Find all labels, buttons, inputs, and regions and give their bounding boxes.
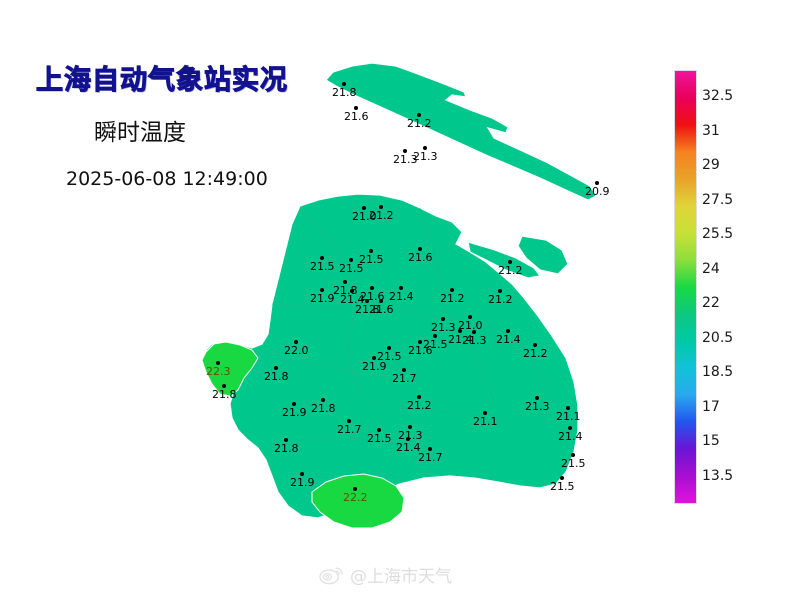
colorbar-label: 18.5	[702, 364, 733, 380]
station-value-label: 21.6	[408, 252, 433, 263]
weather-map-page: 上海自动气象站实况 瞬时温度 2025-06-08 12:49:00	[0, 0, 800, 600]
colorbar-label: 17	[702, 399, 720, 415]
station-value-label: 21.2	[440, 293, 465, 304]
watermark-text: @上海市天气	[350, 562, 452, 587]
weibo-logo-icon	[318, 564, 344, 586]
station-value-label: 21.8	[212, 389, 237, 400]
station-value-label: 21.2	[498, 265, 523, 276]
station-value-label: 21.2	[523, 348, 548, 359]
watermark: @上海市天气	[318, 562, 452, 587]
station-value-label: 21.5	[550, 481, 575, 492]
station-value-label: 21.6	[408, 345, 433, 356]
colorbar-label: 13.5	[702, 468, 733, 484]
station-value-label: 21.8	[332, 87, 357, 98]
colorbar-label: 15	[702, 433, 720, 449]
station-value-label: 21.7	[337, 424, 362, 435]
colorbar-label: 20.5	[702, 330, 733, 346]
station-value-label: 21.2	[407, 118, 432, 129]
station-value-label: 21.8	[264, 371, 289, 382]
station-value-label: 21.1	[556, 411, 581, 422]
station-value-label: 21.6	[344, 111, 369, 122]
station-value-label: 21.4	[558, 431, 583, 442]
map-canvas[interactable]: 21.821.621.221.321.320.921.021.221.521.6…	[0, 0, 660, 600]
colorbar-label: 32.5	[702, 88, 733, 104]
colorbar-label: 24	[702, 261, 720, 277]
station-value-label: 21.5	[377, 351, 402, 362]
station-value-label: 21.5	[310, 261, 335, 272]
colorbar-label: 31	[702, 123, 720, 139]
station-value-label: 21.2	[488, 294, 513, 305]
colorbar-gradient	[674, 70, 697, 504]
colorbar-label: 25.5	[702, 226, 733, 242]
station-value-label: 21.3	[462, 335, 487, 346]
station-value-label: 21.5	[339, 263, 364, 274]
colorbar-label: 22	[702, 295, 720, 311]
station-value-label: 21.3	[431, 322, 456, 333]
station-value-label: 21.3	[413, 151, 438, 162]
chongming-island-shape	[326, 63, 596, 200]
station-value-label: 21.8	[311, 403, 336, 414]
station-value-label: 21.5	[367, 433, 392, 444]
station-value-label: 21.2	[369, 210, 394, 221]
station-value-label: 22.0	[284, 345, 309, 356]
station-value-label: 21.4	[496, 334, 521, 345]
temperature-colorbar[interactable]: 32.5312927.525.5242220.518.5171513.5	[674, 70, 794, 502]
station-value-label: 21.4	[396, 442, 421, 453]
station-value-label: 22.2	[343, 492, 368, 503]
station-value-label: 21.4	[389, 291, 414, 302]
station-value-label: 21.9	[310, 293, 335, 304]
station-value-label: 21.9	[290, 477, 315, 488]
station-value-label: 21.7	[418, 452, 443, 463]
station-value-label: 21.7	[392, 373, 417, 384]
station-value-label: 21.9	[282, 407, 307, 418]
station-value-label: 21.2	[407, 400, 432, 411]
colorbar-label: 27.5	[702, 192, 733, 208]
station-value-label: 20.9	[585, 186, 610, 197]
station-value-label: 21.1	[473, 416, 498, 427]
station-value-label: 22.3	[206, 366, 231, 377]
station-value-label: 21.6	[369, 304, 394, 315]
colorbar-label: 29	[702, 157, 720, 173]
station-value-label: 21.3	[398, 430, 423, 441]
station-value-label: 21.5	[561, 458, 586, 469]
station-value-label: 21.3	[525, 401, 550, 412]
station-value-label: 21.8	[274, 443, 299, 454]
